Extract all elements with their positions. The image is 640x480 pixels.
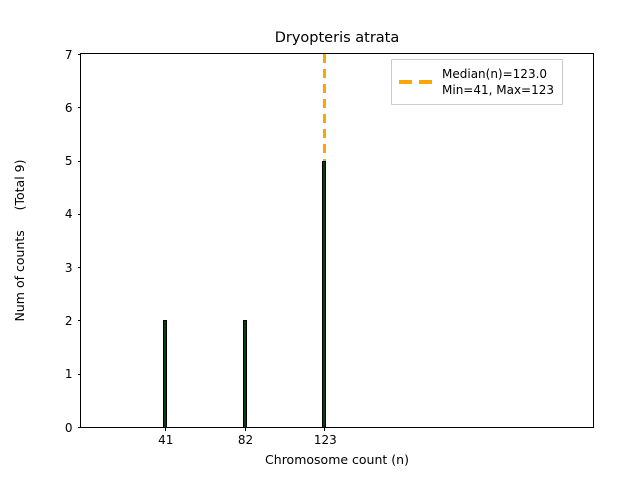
legend-label-minmax: Min=41, Max=123 xyxy=(442,82,554,98)
y-axis-tick-label: 4 xyxy=(65,206,73,223)
plot-area: 012345674182123 xyxy=(80,53,594,428)
legend-label-median: Median(n)=123.0 xyxy=(442,66,554,82)
y-axis-tick: 2 xyxy=(78,320,82,321)
y-axis-tick-label: 6 xyxy=(65,100,73,117)
x-axis-tick: 123 xyxy=(324,427,325,431)
y-axis-tick: 7 xyxy=(78,54,82,55)
bar xyxy=(243,320,247,427)
y-axis-tick: 6 xyxy=(78,107,82,108)
legend-text: Median(n)=123.0 Min=41, Max=123 xyxy=(442,66,554,98)
y-axis-tick-label: 0 xyxy=(65,420,73,437)
x-axis-tick-label: 123 xyxy=(314,432,337,449)
bar xyxy=(163,320,167,427)
y-axis-tick: 4 xyxy=(78,214,82,215)
y-axis-tick-label: 2 xyxy=(65,313,73,330)
y-axis-label: Num of counts (Total 9) xyxy=(10,53,30,428)
x-axis-tick: 82 xyxy=(245,427,246,431)
y-axis-tick: 1 xyxy=(78,374,82,375)
legend: Median(n)=123.0 Min=41, Max=123 xyxy=(391,59,563,105)
y-axis-tick: 0 xyxy=(78,427,82,428)
x-axis-tick: 41 xyxy=(165,427,166,431)
bar xyxy=(322,161,326,427)
y-axis-tick-label: 7 xyxy=(65,47,73,64)
x-axis-label: Chromosome count (n) xyxy=(80,452,594,468)
y-axis-tick-label: 3 xyxy=(65,260,73,277)
x-axis-tick-label: 41 xyxy=(158,432,173,449)
y-axis-tick-label: 5 xyxy=(65,153,73,170)
y-axis-tick-label: 1 xyxy=(65,366,73,383)
page-title: Dryopteris atrata xyxy=(80,30,594,47)
y-axis-tick: 3 xyxy=(78,267,82,268)
figure-canvas: Dryopteris atrata 012345674182123 Chromo… xyxy=(0,0,640,480)
y-axis-tick: 5 xyxy=(78,161,82,162)
x-axis-tick-label: 82 xyxy=(238,432,253,449)
orange-dashed-line-icon xyxy=(399,76,435,88)
plot-inner xyxy=(81,54,593,427)
